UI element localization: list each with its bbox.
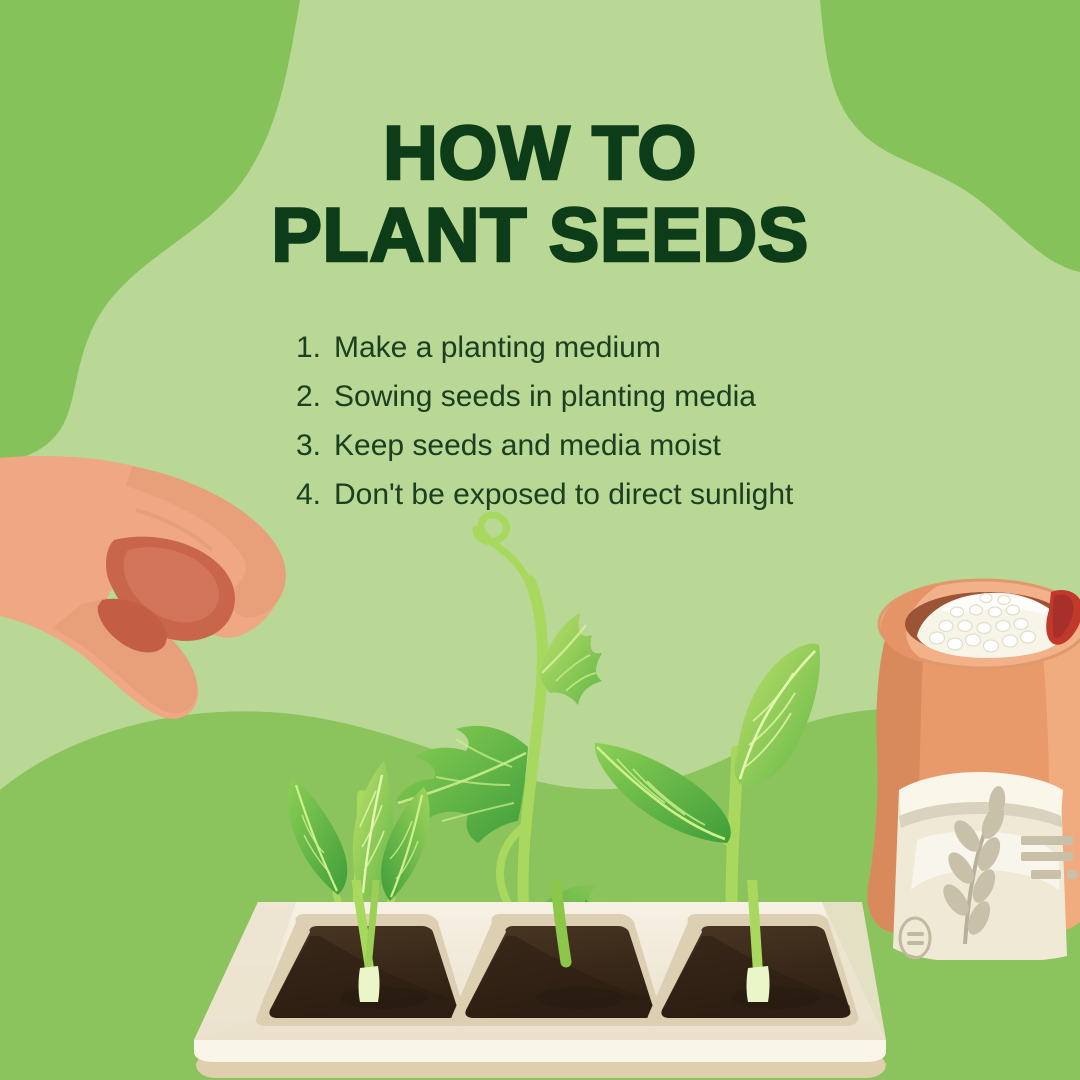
title-line-2: PLANT SEEDS xyxy=(0,195,1080,277)
page-title: HOW TO PLANT SEEDS xyxy=(0,51,1080,277)
steps-list: 1. Make a planting medium 2. Sowing seed… xyxy=(296,333,996,510)
leaf xyxy=(734,644,820,786)
list-item-number: 2. xyxy=(296,382,334,412)
list-item-label: Make a planting medium xyxy=(334,333,996,363)
list-item: 2. Sowing seeds in planting media xyxy=(296,382,996,412)
list-item-label: Sowing seeds in planting media xyxy=(334,382,996,412)
list-item: 1. Make a planting medium xyxy=(296,333,996,363)
list-item: 4. Don't be exposed to direct sunlight xyxy=(296,480,996,510)
list-item-label: Don't be exposed to direct sunlight xyxy=(334,480,996,510)
title-line-1: HOW TO xyxy=(0,113,1080,195)
seed-packet-icon xyxy=(893,772,1077,960)
list-item-number: 4. xyxy=(296,480,334,510)
list-item-number: 1. xyxy=(296,333,334,363)
poster-canvas: HOW TO PLANT SEEDS 1. Make a planting me… xyxy=(0,0,1080,1080)
text-block: HOW TO PLANT SEEDS 1. Make a planting me… xyxy=(0,0,1080,529)
leaf xyxy=(595,743,731,843)
leaf xyxy=(288,777,348,895)
list-item: 3. Keep seeds and media moist xyxy=(296,431,996,461)
list-item-number: 3. xyxy=(296,431,334,461)
list-item-label: Keep seeds and media moist xyxy=(334,431,996,461)
tray-front-stems xyxy=(170,880,910,1080)
